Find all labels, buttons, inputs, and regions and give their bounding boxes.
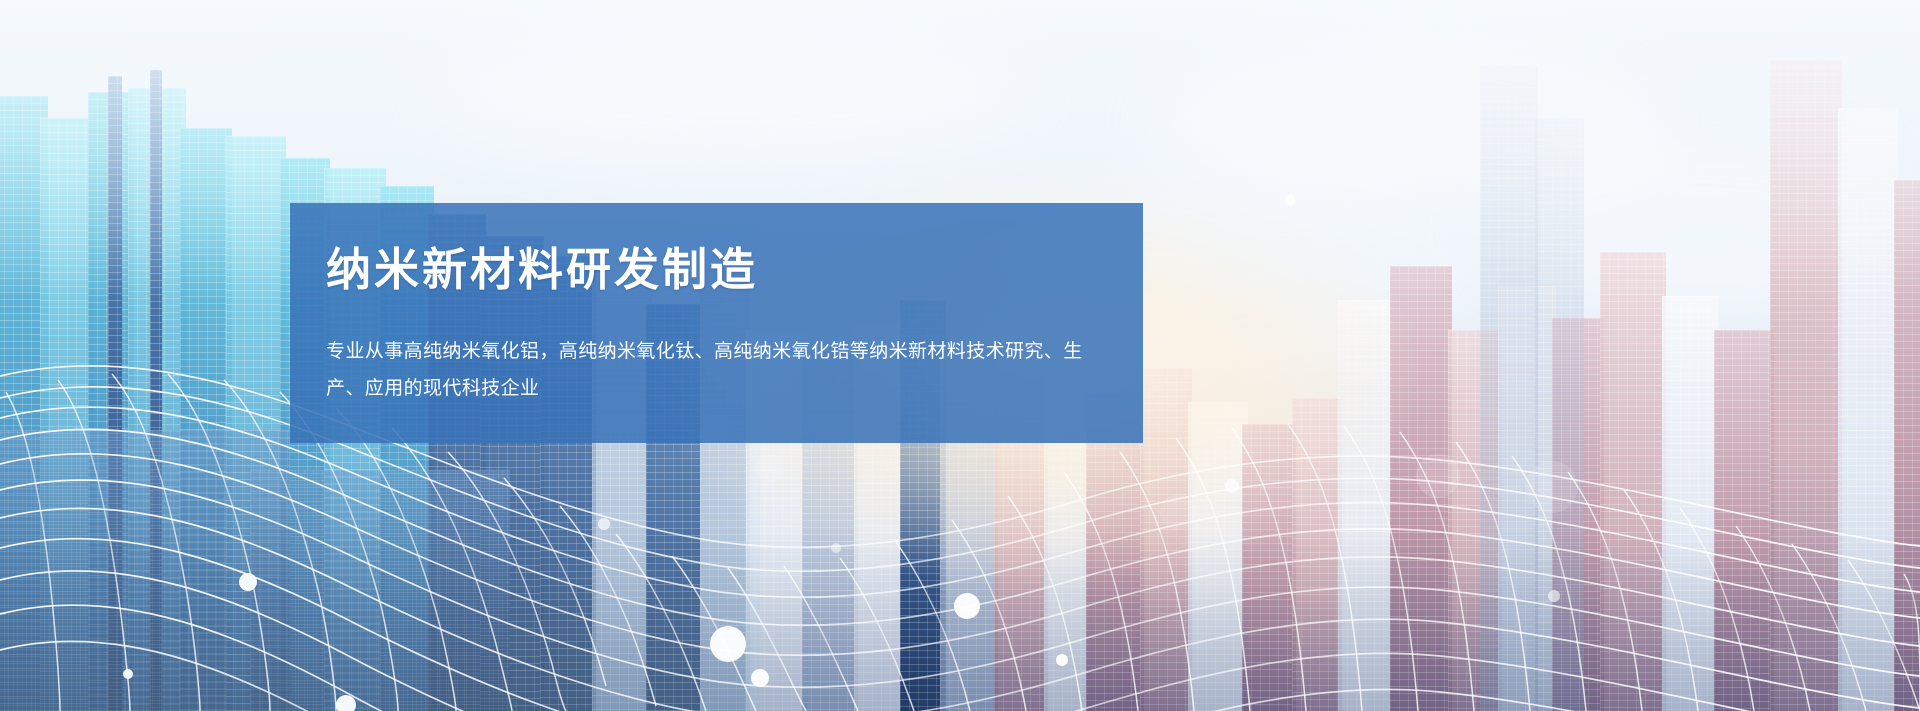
hero-text-panel: 纳米新材料研发制造 专业从事高纯纳米氧化铝，高纯纳米氧化钛、高纯纳米氧化锆等纳米… <box>290 203 1143 443</box>
page-subtitle: 专业从事高纯纳米氧化铝，高纯纳米氧化钛、高纯纳米氧化锆等纳米新材料技术研究、生产… <box>326 333 1116 407</box>
hero-banner: 纳米新材料研发制造 专业从事高纯纳米氧化铝，高纯纳米氧化钛、高纯纳米氧化锆等纳米… <box>0 0 1920 711</box>
page-title: 纳米新材料研发制造 <box>326 245 1143 295</box>
